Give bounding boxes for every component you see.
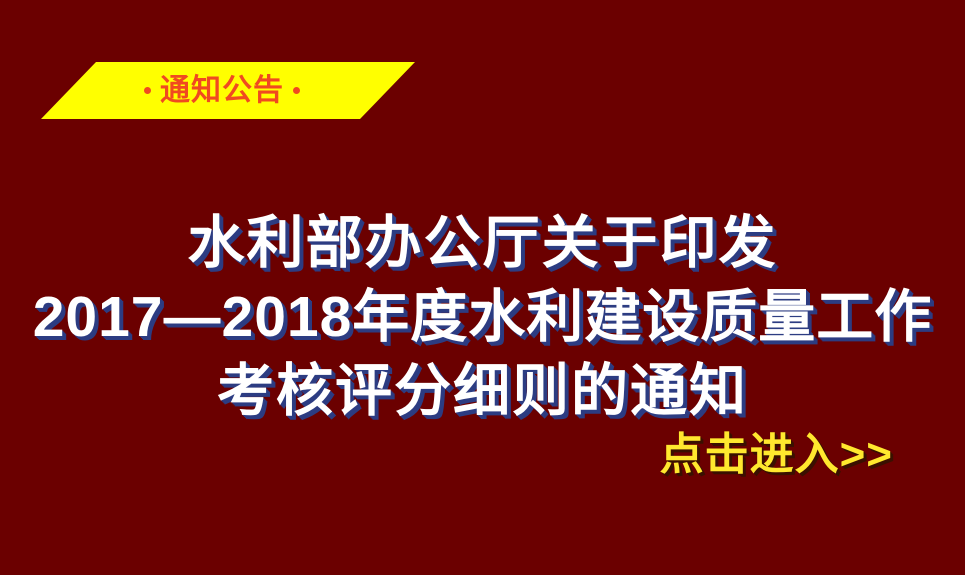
dot-ornament-icon bbox=[293, 87, 300, 94]
headline-line-1: 水利部办公厅关于印发 bbox=[0, 206, 965, 280]
announcement-banner: 通知公告 水利部办公厅关于印发 2017—2018年度水利建设质量工作 考核评分… bbox=[0, 0, 965, 575]
headline-line-2: 2017—2018年度水利建设质量工作 bbox=[0, 280, 965, 354]
cta-container: 点击进入>> bbox=[0, 433, 965, 477]
enter-link[interactable]: 点击进入>> bbox=[660, 433, 893, 477]
headline-line-3: 考核评分细则的通知 bbox=[0, 354, 965, 428]
ribbon-label: 通知公告 bbox=[160, 76, 284, 106]
dot-ornament-icon bbox=[144, 87, 151, 94]
notice-ribbon-tag: 通知公告 bbox=[41, 62, 415, 119]
headline-block: 水利部办公厅关于印发 2017—2018年度水利建设质量工作 考核评分细则的通知 bbox=[0, 206, 965, 428]
ribbon-content: 通知公告 bbox=[144, 76, 300, 106]
